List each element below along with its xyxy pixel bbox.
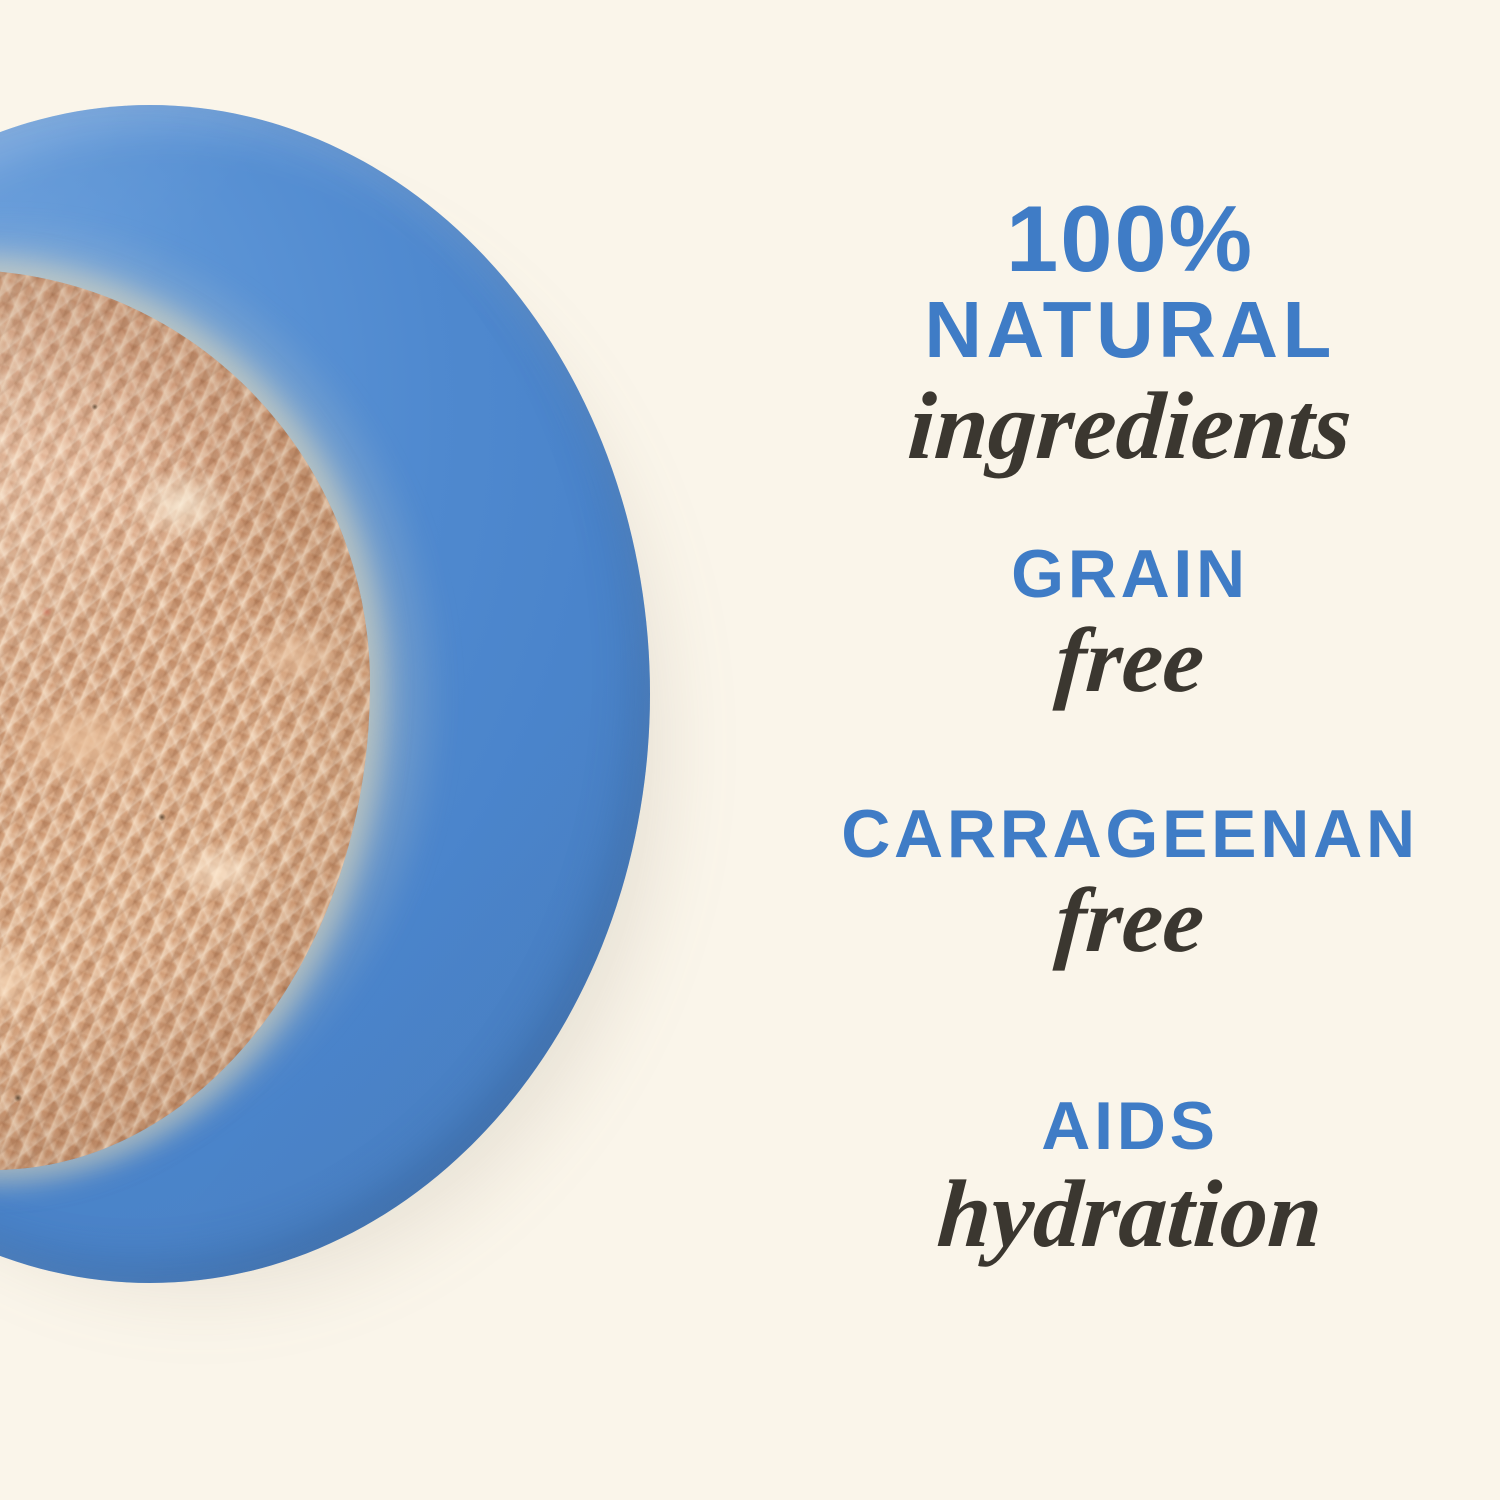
claim-natural-ingredients: 100% NATURAL ingredients [760, 192, 1500, 474]
claim-natural-line2: NATURAL [760, 290, 1500, 370]
claim-carrageenan-free: CARRAGEENAN free [760, 800, 1500, 966]
claim-aids-line1: AIDS [760, 1092, 1500, 1160]
claim-carrageenan-line1: CARRAGEENAN [760, 800, 1500, 868]
product-feature-panel: 100% NATURAL ingredients GRAIN free CARR… [0, 0, 1500, 1500]
shredded-fish-food [0, 270, 370, 1170]
claim-grain-line2: free [757, 614, 1500, 706]
claim-natural-line1: 100% [760, 192, 1500, 286]
claim-natural-line3: ingredients [757, 378, 1500, 474]
claim-grain-line1: GRAIN [760, 540, 1500, 608]
claim-aids-line2: hydration [757, 1166, 1500, 1262]
claim-grain-free: GRAIN free [760, 540, 1500, 706]
food-photo [0, 0, 760, 1500]
claim-aids-hydration: AIDS hydration [760, 1092, 1500, 1262]
claim-carrageenan-line2: free [757, 874, 1500, 966]
claims-list: 100% NATURAL ingredients GRAIN free CARR… [760, 0, 1500, 1500]
food-specks [0, 270, 370, 1170]
